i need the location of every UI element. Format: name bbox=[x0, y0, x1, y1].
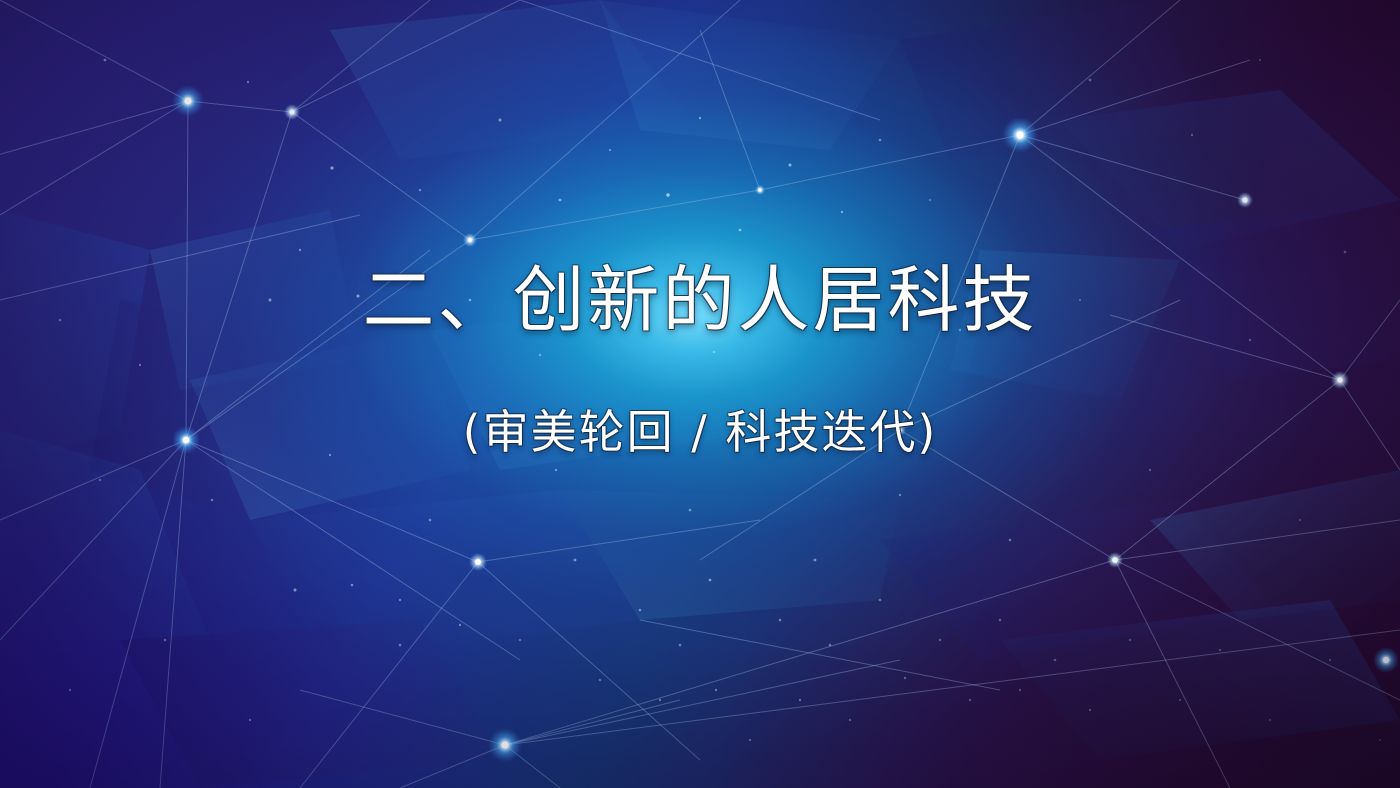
page-subtitle: (审美轮回 / 科技迭代) bbox=[0, 406, 1400, 459]
slide-text-block: 二、创新的人居科技 (审美轮回 / 科技迭代) bbox=[0, 262, 1400, 459]
page-title: 二、创新的人居科技 bbox=[0, 262, 1400, 340]
title-slide: 二、创新的人居科技 (审美轮回 / 科技迭代) bbox=[0, 0, 1400, 788]
